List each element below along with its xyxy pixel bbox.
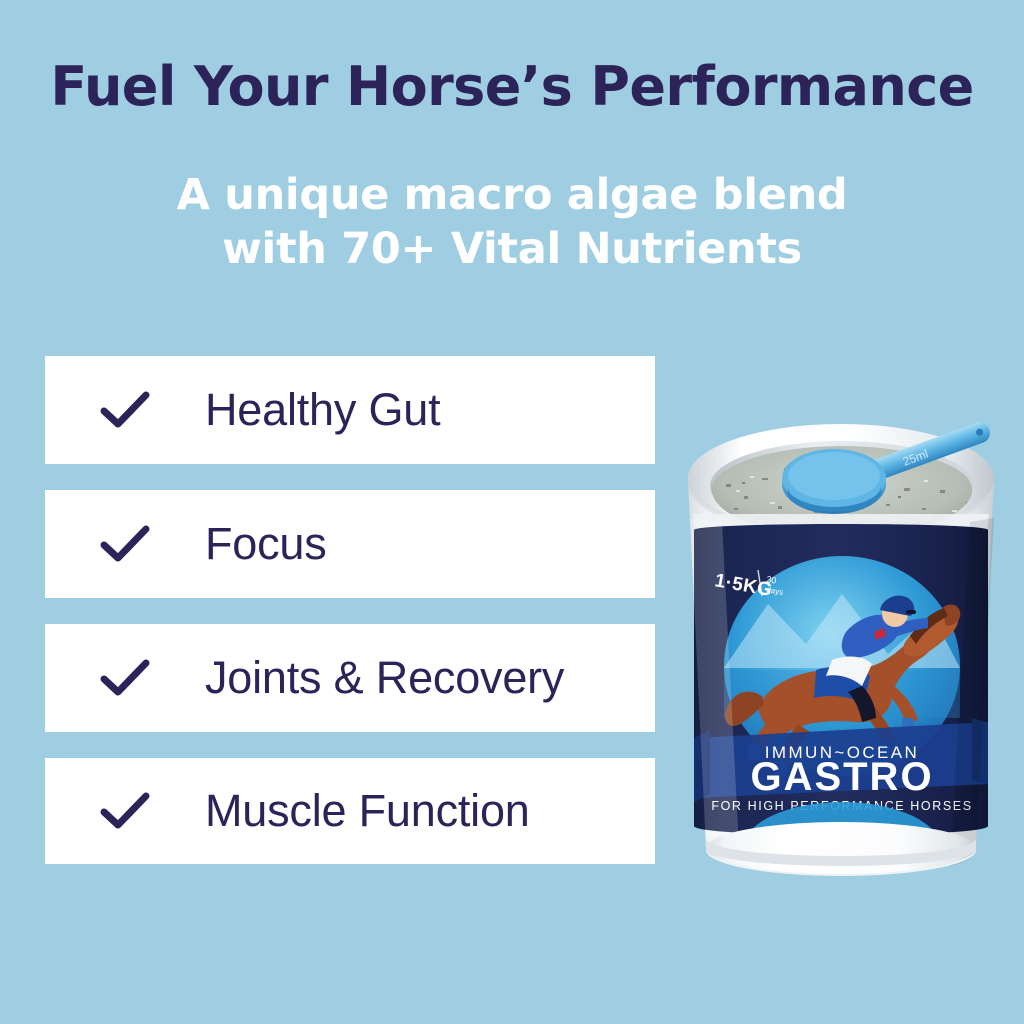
list-item-label: Joints & Recovery bbox=[205, 652, 564, 704]
product-image: 25ml bbox=[666, 418, 1016, 888]
check-icon bbox=[45, 659, 205, 697]
page-subtitle-line-2: with 70+ Vital Nutrients bbox=[0, 222, 1024, 276]
page-subtitle: A unique macro algae blend with 70+ Vita… bbox=[0, 168, 1024, 276]
check-icon bbox=[45, 525, 205, 563]
product-name-text: GASTRO bbox=[750, 755, 933, 799]
page-subtitle-line-1: A unique macro algae blend bbox=[0, 168, 1024, 222]
list-item-label: Healthy Gut bbox=[205, 384, 440, 436]
servings-number-text: 30 bbox=[766, 574, 778, 586]
list-item: Muscle Function bbox=[45, 758, 655, 864]
list-item: Joints & Recovery bbox=[45, 624, 655, 732]
product-promo-poster: Fuel Your Horse’s Performance A unique m… bbox=[0, 0, 1024, 1024]
page-title: Fuel Your Horse’s Performance bbox=[0, 56, 1024, 118]
list-item-label: Muscle Function bbox=[205, 785, 530, 837]
check-icon bbox=[45, 792, 205, 830]
check-icon bbox=[45, 391, 205, 429]
list-item-label: Focus bbox=[205, 518, 327, 570]
benefit-list: Healthy Gut Focus Joints & Recovery bbox=[45, 356, 655, 864]
list-item: Healthy Gut bbox=[45, 356, 655, 464]
list-item: Focus bbox=[45, 490, 655, 598]
